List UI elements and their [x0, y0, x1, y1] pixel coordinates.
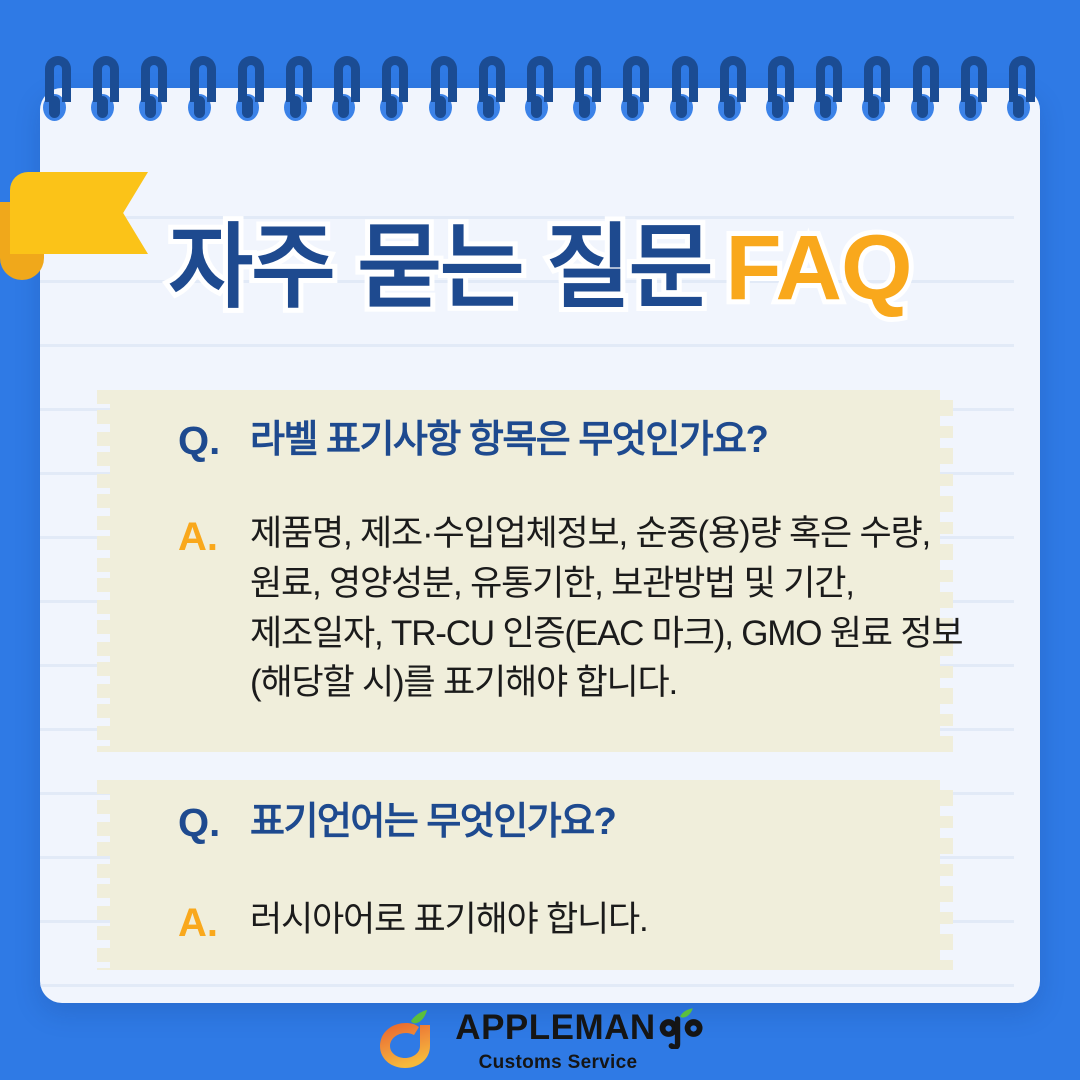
- ring-pin: [49, 96, 60, 118]
- spiral-ring: [1009, 56, 1035, 128]
- ring-pin: [917, 96, 928, 118]
- spiral-ring: [286, 56, 312, 128]
- logo-tagline: Customs Service: [455, 1052, 660, 1074]
- ring-pin: [435, 96, 446, 118]
- brand-name-row: APPLEMAN: [455, 1006, 706, 1049]
- spiral-ring: [93, 56, 119, 128]
- ring-wire: [623, 56, 649, 102]
- ring-wire: [720, 56, 746, 102]
- spiral-ring: [623, 56, 649, 128]
- ring-pin: [338, 96, 349, 118]
- question-text: 표기언어는 무엇인가요?: [250, 800, 615, 845]
- ring-wire: [1009, 56, 1035, 102]
- ring-wire: [382, 56, 408, 102]
- ring-pin: [386, 96, 397, 118]
- ring-wire: [45, 56, 71, 102]
- answer-label: A.: [178, 895, 250, 952]
- spiral-ring: [141, 56, 167, 128]
- spiral-ring: [382, 56, 408, 128]
- spiral-ring: [816, 56, 842, 128]
- spiral-ring: [45, 56, 71, 128]
- question-label: Q.: [178, 800, 250, 847]
- faq-question-row: Q. 라벨 표기사항 항목은 무엇인가요?: [178, 418, 968, 465]
- spiral-ring: [238, 56, 264, 128]
- brand-name: APPLEMAN: [455, 1010, 655, 1045]
- answer-label: A.: [178, 509, 250, 566]
- ring-wire: [864, 56, 890, 102]
- faq-card: 자주 묻는 질문FAQ Q. 라벨 표기사항 항목은 무엇인가요? A. 제품명…: [0, 0, 1080, 1080]
- ring-wire: [479, 56, 505, 102]
- spiral-ring: [479, 56, 505, 128]
- spiral-ring: [768, 56, 794, 128]
- ring-pin: [242, 96, 253, 118]
- question-label: Q.: [178, 418, 250, 465]
- faq-question-row: Q. 표기언어는 무엇인가요?: [178, 800, 968, 847]
- spiral-ring: [720, 56, 746, 128]
- answer-text: 러시아어로 표기해야 합니다.: [250, 895, 648, 945]
- spiral-ring: [527, 56, 553, 128]
- ring-wire: [286, 56, 312, 102]
- spiral-ring: [672, 56, 698, 128]
- faq-answer-row: A. 러시아어로 표기해야 합니다.: [178, 895, 968, 952]
- ring-pin: [531, 96, 542, 118]
- ring-pin: [97, 96, 108, 118]
- ring-pin: [724, 96, 735, 118]
- ring-wire: [141, 56, 167, 102]
- question-text: 라벨 표기사항 항목은 무엇인가요?: [250, 418, 767, 463]
- ring-wire: [334, 56, 360, 102]
- apple-logo-icon: [373, 1010, 439, 1070]
- ring-pin: [772, 96, 783, 118]
- page-title: 자주 묻는 질문FAQ: [0, 222, 1080, 314]
- rule-line: [40, 344, 1014, 347]
- ring-wire: [575, 56, 601, 102]
- spiral-ring: [913, 56, 939, 128]
- logo-wordmark: APPLEMAN Customs Service: [455, 1006, 706, 1074]
- spiral-ring: [961, 56, 987, 128]
- bookmark-flag: [10, 172, 148, 254]
- ring-pin: [483, 96, 494, 118]
- ring-pin: [965, 96, 976, 118]
- title-korean: 자주 묻는 질문: [168, 217, 711, 319]
- ring-wire: [961, 56, 987, 102]
- ring-wire: [190, 56, 216, 102]
- ring-pin: [627, 96, 638, 118]
- ring-pin: [676, 96, 687, 118]
- ring-wire: [768, 56, 794, 102]
- answer-text: 제품명, 제조·수입업체정보, 순중(용)량 혹은 수량, 원료, 영양성분, …: [250, 509, 962, 708]
- brand-suffix: [657, 1006, 707, 1049]
- ring-wire: [238, 56, 264, 102]
- faq-item-1: Q. 라벨 표기사항 항목은 무엇인가요? A. 제품명, 제조·수입업체정보,…: [178, 418, 968, 708]
- ring-pin: [868, 96, 879, 118]
- ring-wire: [672, 56, 698, 102]
- ring-wire: [816, 56, 842, 102]
- ring-wire: [527, 56, 553, 102]
- ring-pin: [579, 96, 590, 118]
- rule-line: [40, 984, 1014, 987]
- faq-answer-row: A. 제품명, 제조·수입업체정보, 순중(용)량 혹은 수량, 원료, 영양성…: [178, 509, 968, 708]
- spiral-ring: [575, 56, 601, 128]
- faq-item-2: Q. 표기언어는 무엇인가요? A. 러시아어로 표기해야 합니다.: [178, 800, 968, 952]
- ring-wire: [93, 56, 119, 102]
- spiral-ring: [431, 56, 457, 128]
- ring-pin: [194, 96, 205, 118]
- title-faq: FAQ: [725, 217, 911, 319]
- ring-pin: [820, 96, 831, 118]
- footer-logo: APPLEMAN Customs Service: [0, 1006, 1080, 1074]
- spiral-ring: [334, 56, 360, 128]
- ring-wire: [431, 56, 457, 102]
- spiral-ring: [864, 56, 890, 128]
- ring-pin: [290, 96, 301, 118]
- spiral-ring: [190, 56, 216, 128]
- ring-wire: [913, 56, 939, 102]
- spiral-binding: [40, 56, 1040, 136]
- ring-pin: [145, 96, 156, 118]
- bookmark-ribbon-icon: [0, 172, 148, 254]
- ring-pin: [1013, 96, 1024, 118]
